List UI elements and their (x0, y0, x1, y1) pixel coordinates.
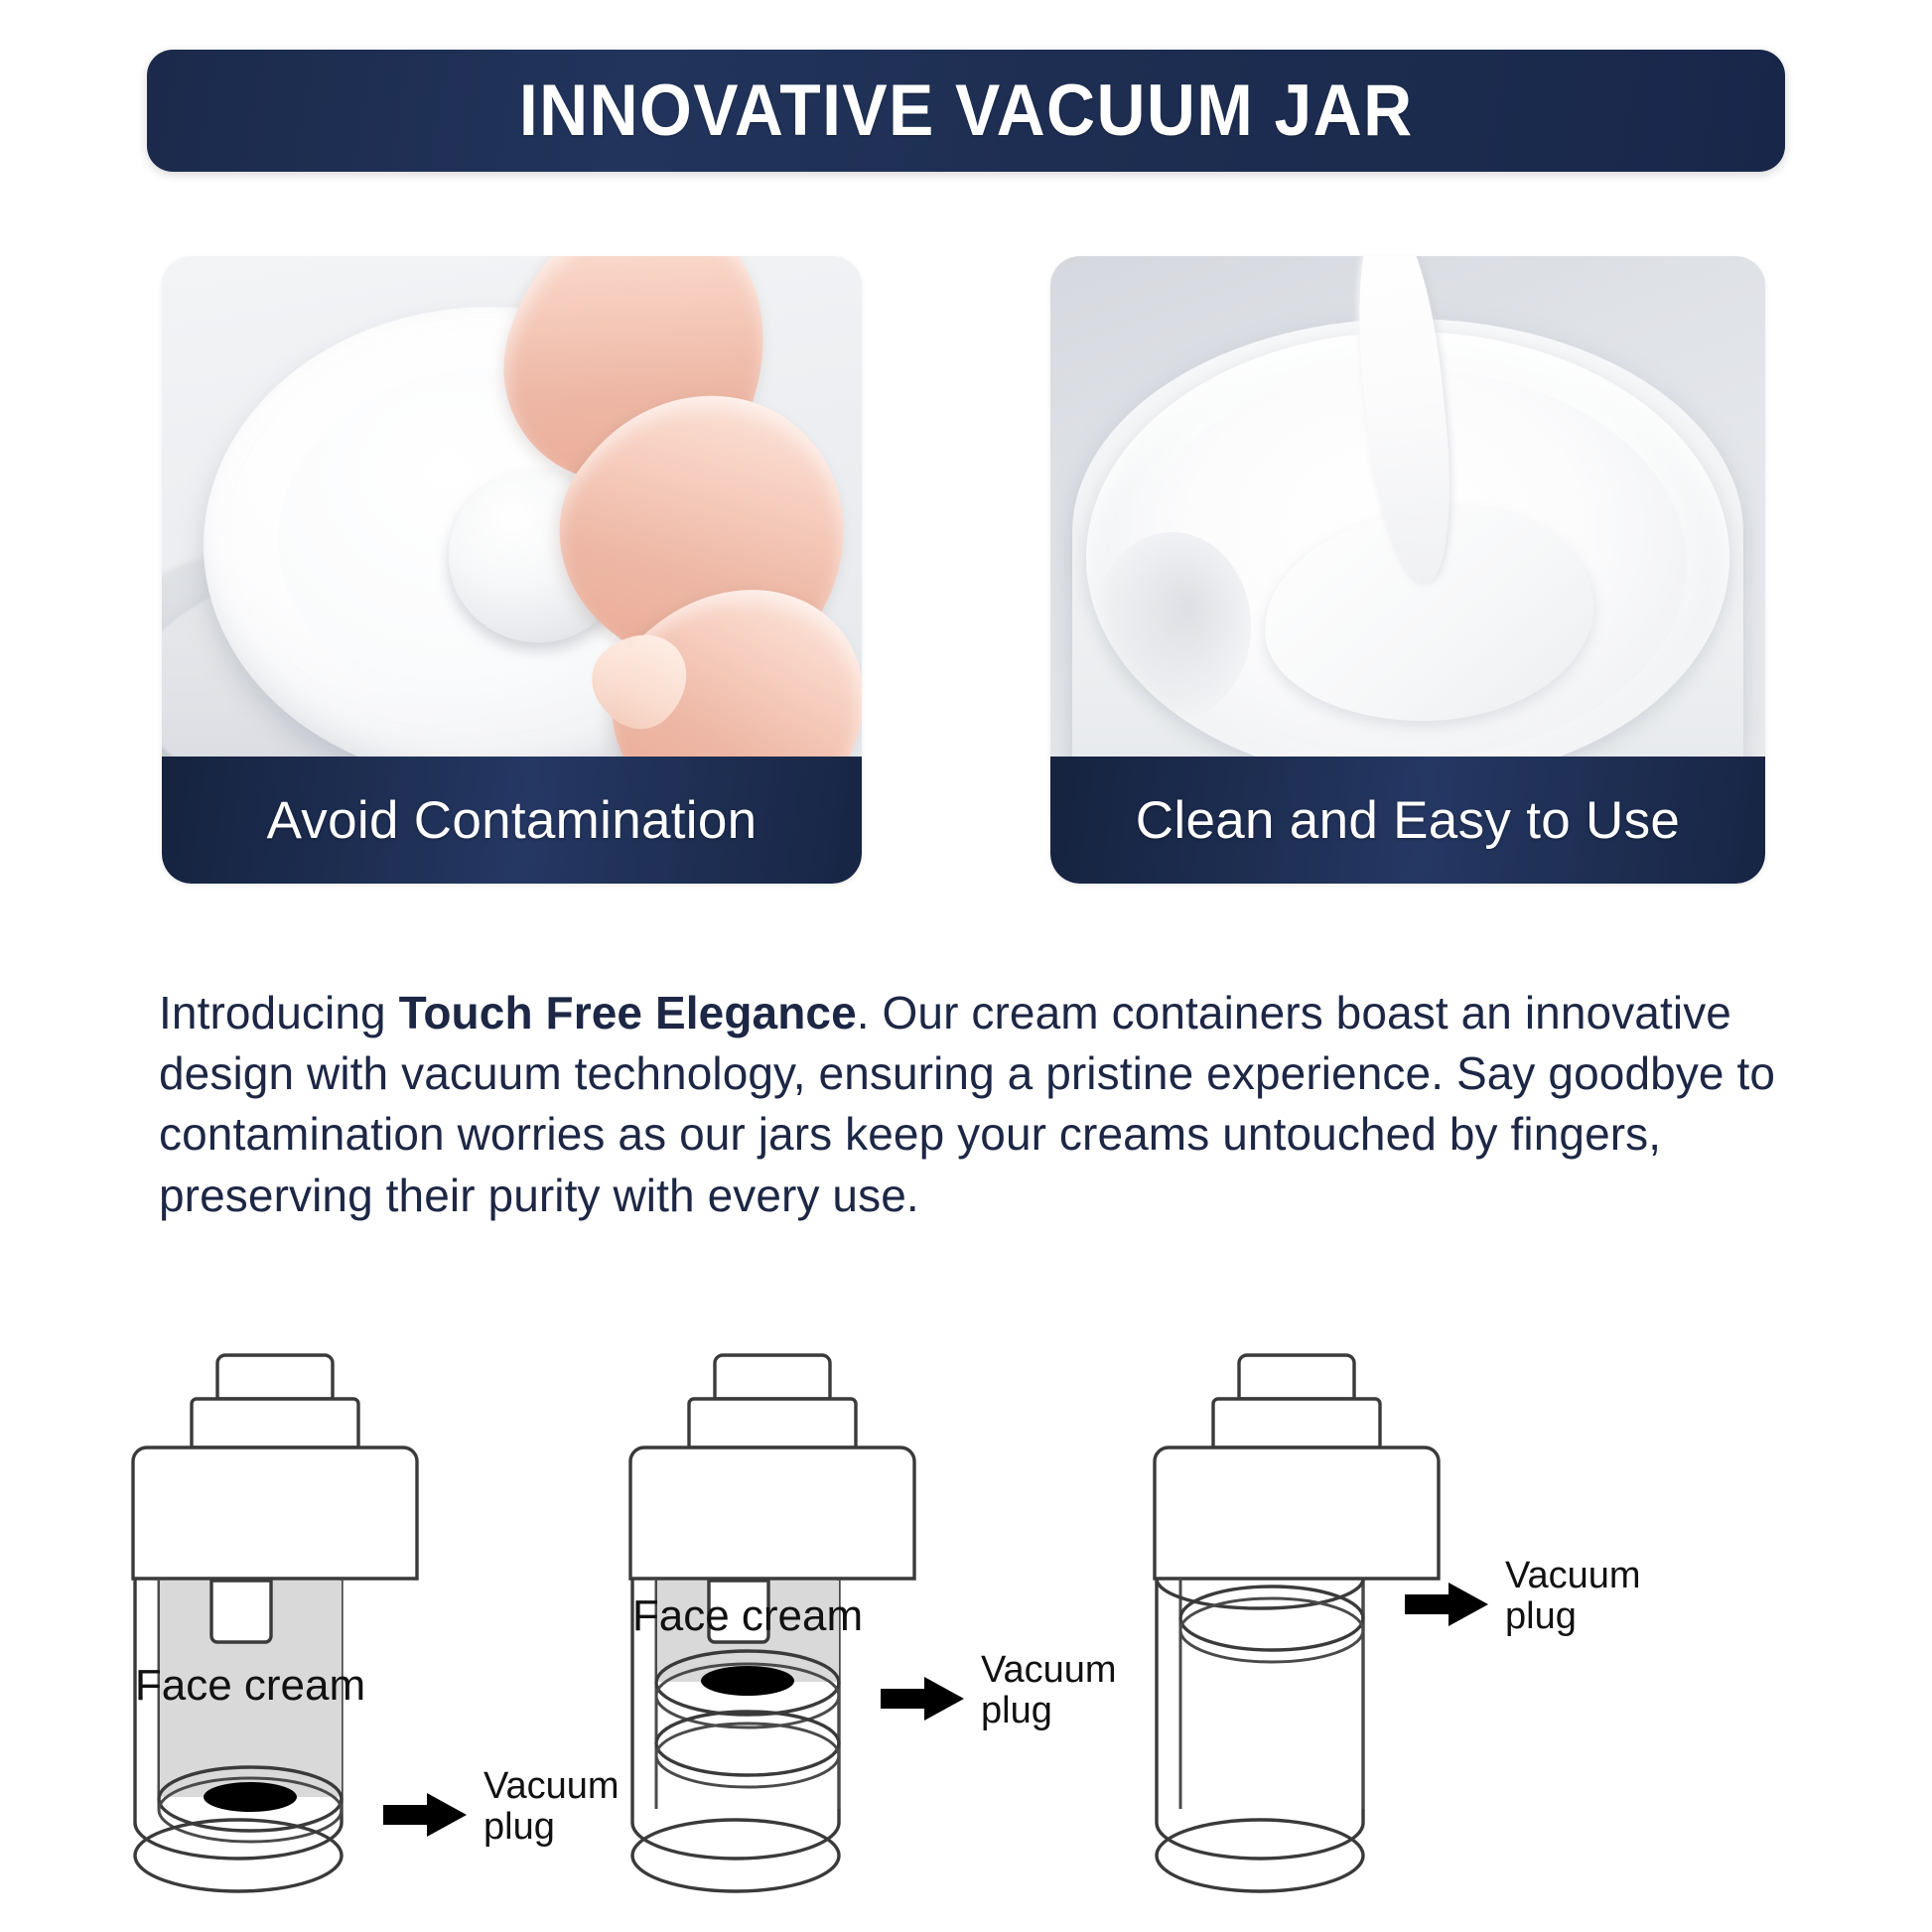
vacuum-plug-label-line2: plug (1505, 1595, 1577, 1637)
vacuum-plug-label-line2: plug (981, 1690, 1052, 1731)
caption-bar-avoid-contamination: Avoid Contamination (162, 757, 862, 884)
infographic-page: INNOVATIVE VACUUM JAR Avoid Contaminatio… (0, 0, 1932, 1932)
title-banner: INNOVATIVE VACUUM JAR (147, 50, 1785, 172)
body-lead: Introducing (159, 987, 399, 1038)
vacuum-plug-arrow (1405, 1583, 1488, 1626)
caption-label: Clean and Easy to Use (1136, 790, 1680, 851)
body-paragraph: Introducing Touch Free Elegance. Our cre… (159, 983, 1787, 1226)
vacuum-jar-diagram: Face cream Vacuum plug (0, 1330, 1932, 1932)
vacuum-plug-label-line2: plug (483, 1806, 555, 1848)
feature-card-clean-easy: Clean and Easy to Use (1050, 256, 1765, 884)
jar-diagram-empty: Vacuum plug (1155, 1355, 1641, 1891)
vacuum-plug-label-line1: Vacuum (483, 1765, 620, 1807)
vacuum-plug-label-line1: Vacuum (1505, 1555, 1641, 1596)
jar-content-label: Face cream (135, 1661, 365, 1710)
page-title: INNOVATIVE VACUUM JAR (519, 74, 1414, 147)
caption-bar-clean-easy: Clean and Easy to Use (1050, 757, 1765, 884)
feature-card-avoid-contamination: Avoid Contamination (162, 256, 862, 884)
caption-label: Avoid Contamination (267, 790, 758, 851)
body-emphasis: Touch Free Elegance (399, 987, 857, 1038)
jar-content-label: Face cream (632, 1591, 863, 1640)
feature-cards-row: Avoid Contamination Clean and Easy to Us… (0, 256, 1932, 892)
vacuum-plug-arrow (881, 1677, 964, 1721)
jar-diagram-full: Face cream Vacuum plug (133, 1355, 620, 1891)
jar-diagram-partial: Face cream Vacuum plug (630, 1355, 1117, 1891)
vacuum-plug-arrow (383, 1793, 467, 1837)
vacuum-plug-label-line1: Vacuum (981, 1649, 1117, 1691)
